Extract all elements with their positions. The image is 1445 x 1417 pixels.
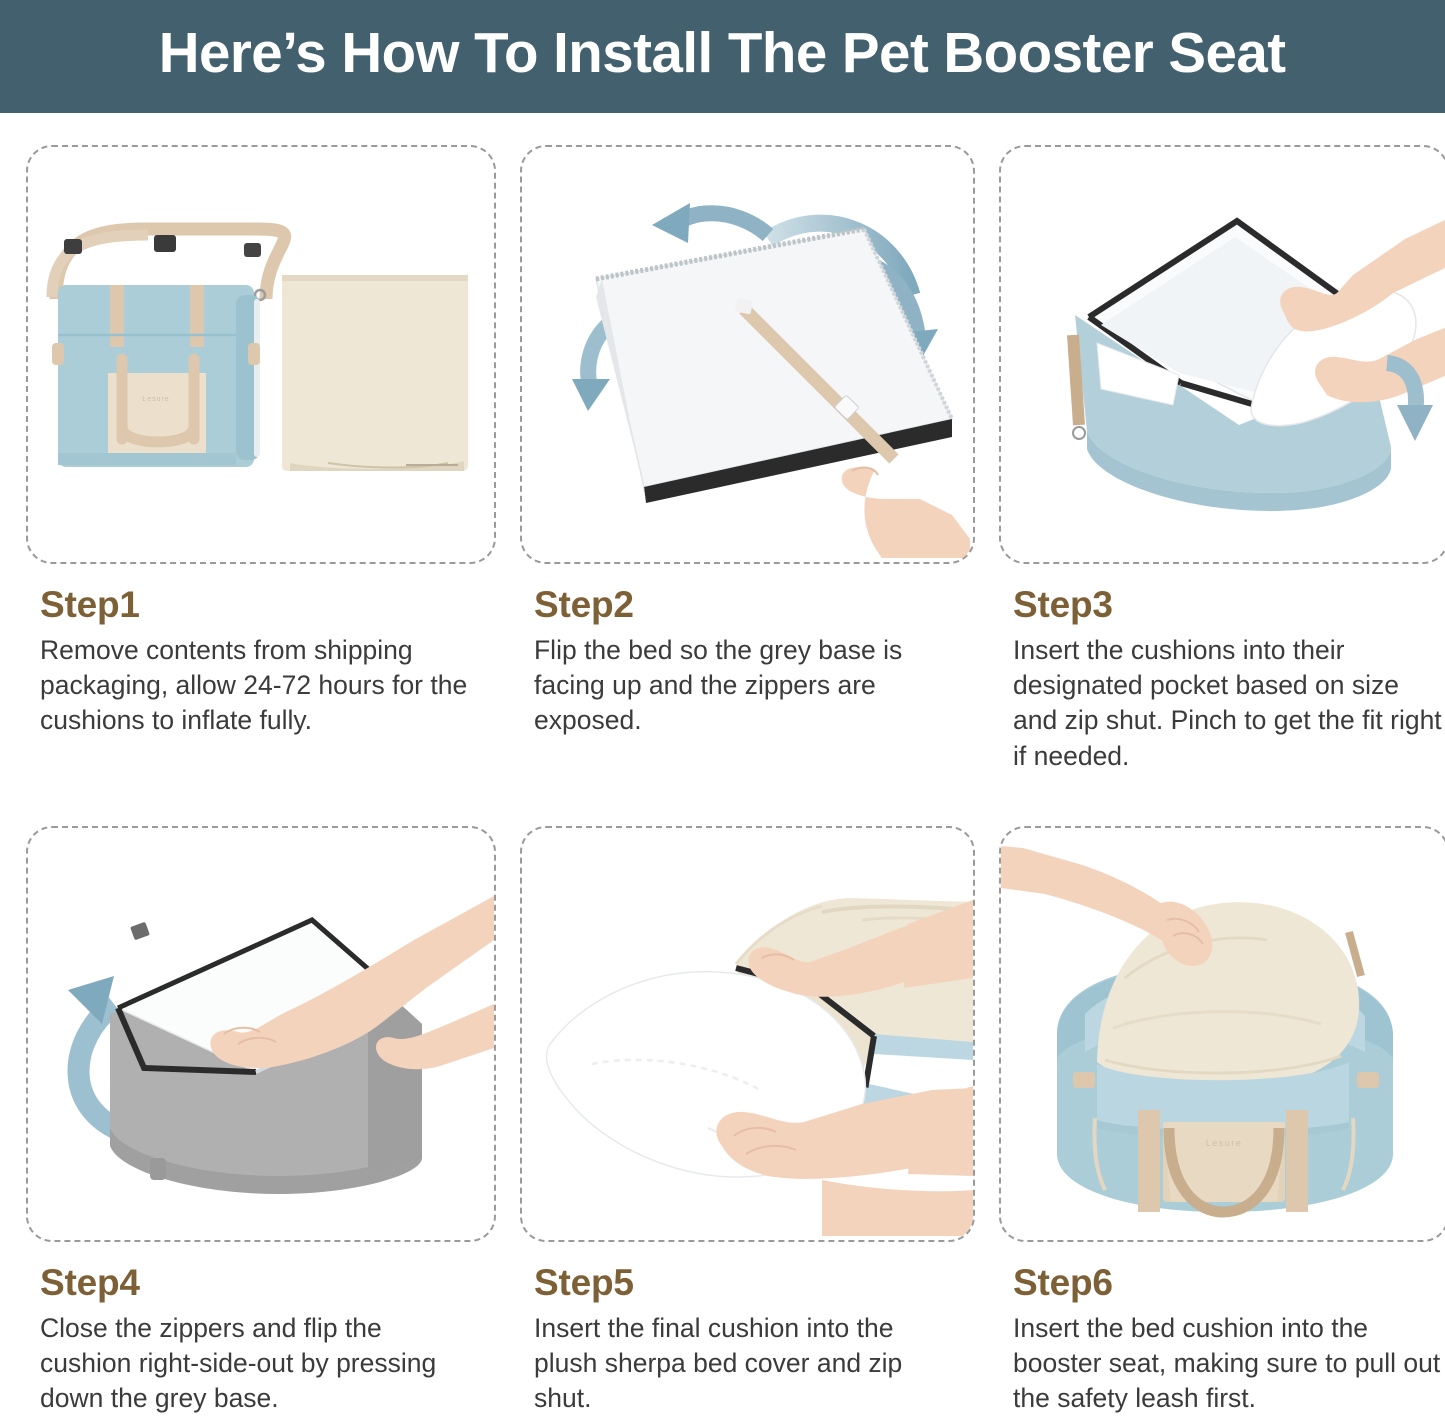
step-1-figure: Lesure [26, 145, 496, 564]
steps-grid-row-2: Step4 Close the zippers and flip the cus… [0, 794, 1445, 1417]
step-4-figure [26, 826, 496, 1242]
step-2-label: Step2 [534, 586, 975, 623]
sherpa-cover-insert-illustration [522, 828, 973, 1236]
step-6-description: Insert the bed cushion into the booster … [1013, 1311, 1443, 1417]
insert-cushion-illustration [1001, 147, 1445, 558]
step-6-figure: Lesure [999, 826, 1445, 1242]
booster-seat-assembly-illustration: Lesure [1001, 828, 1445, 1236]
step-cell-5: Step5 Insert the final cushion into the … [520, 826, 975, 1417]
step-2-figure [520, 145, 975, 564]
step-cell-3: Step3 Insert the cushions into their des… [999, 145, 1445, 774]
steps-grid-row-1: Lesure Step1 Remove contents from shippi… [0, 113, 1445, 774]
step-5-description: Insert the final cushion into the plush … [534, 1311, 964, 1417]
step-cell-4: Step4 Close the zippers and flip the cus… [26, 826, 496, 1417]
step-cell-1: Lesure Step1 Remove contents from shippi… [26, 145, 496, 774]
step-2-description: Flip the bed so the grey base is facing … [534, 633, 964, 739]
step-4-description: Close the zippers and flip the cushion r… [40, 1311, 470, 1417]
svg-text:Lesure: Lesure [1206, 1138, 1243, 1148]
step-cell-6: Lesure Step6 Insert the bed cushion into… [999, 826, 1445, 1417]
step-cell-2: Step2 Flip the bed so the grey base is f… [520, 145, 975, 774]
bag-and-blanket-illustration: Lesure [28, 147, 494, 558]
svg-text:Lesure: Lesure [142, 396, 169, 403]
step-3-figure [999, 145, 1445, 564]
step-1-label: Step1 [40, 586, 496, 623]
step-3-label: Step3 [1013, 586, 1445, 623]
step-6-label: Step6 [1013, 1264, 1445, 1301]
step-1-description: Remove contents from shipping packaging,… [40, 633, 470, 739]
page-header: Here’s How To Install The Pet Booster Se… [0, 0, 1445, 113]
flip-bed-illustration [522, 147, 973, 558]
page-title: Here’s How To Install The Pet Booster Se… [159, 25, 1286, 82]
step-4-label: Step4 [40, 1264, 496, 1301]
step-5-figure [520, 826, 975, 1242]
step-3-description: Insert the cushions into their designate… [1013, 633, 1443, 774]
step-5-label: Step5 [534, 1264, 975, 1301]
flip-grey-base-illustration [28, 828, 494, 1236]
